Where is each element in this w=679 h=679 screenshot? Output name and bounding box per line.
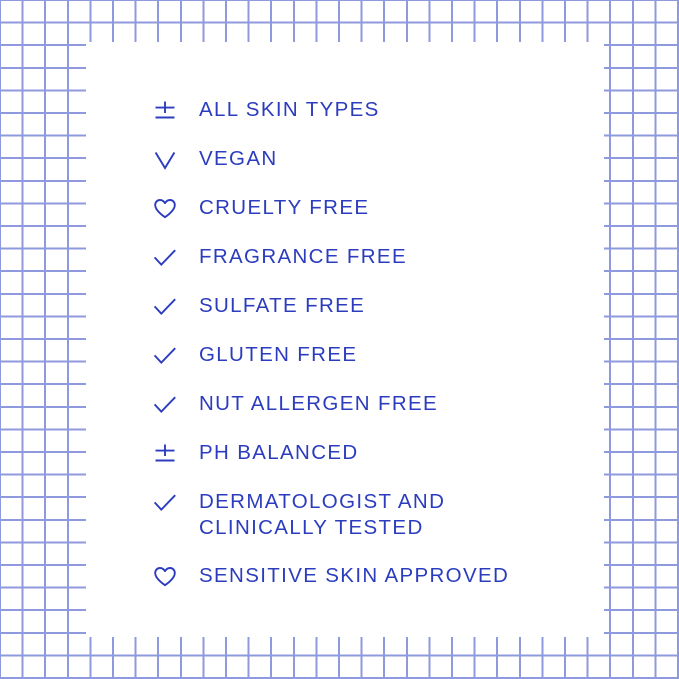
claim-label: SULFATE FREE [199,293,365,319]
claim-label: PH BALANCED [199,440,359,466]
check-icon [152,490,186,516]
check-icon [152,294,186,320]
heart-icon [152,564,186,590]
check-icon [152,245,186,271]
claims-list: ALL SKIN TYPES VEGAN CRUELTY FREE [86,42,604,637]
plus-minus-icon [152,98,186,124]
product-claims-card: ALL SKIN TYPES VEGAN CRUELTY FREE [86,42,604,637]
claim-label: SENSITIVE SKIN APPROVED [199,563,509,589]
claim-label: CRUELTY FREE [199,195,369,221]
claim-label: DERMATOLOGIST AND CLINICALLY TESTED [199,489,445,540]
check-icon [152,343,186,369]
claim-label: ALL SKIN TYPES [199,97,380,123]
claim-label: GLUTEN FREE [199,342,357,368]
claim-label: FRAGRANCE FREE [199,244,407,270]
page-background: ALL SKIN TYPES VEGAN CRUELTY FREE [0,0,679,679]
claim-label: NUT ALLERGEN FREE [199,391,438,417]
plus-minus-icon [152,441,186,467]
claim-label: VEGAN [199,146,278,172]
v-leaf-icon [152,147,186,173]
heart-icon [152,196,186,222]
check-icon [152,392,186,418]
